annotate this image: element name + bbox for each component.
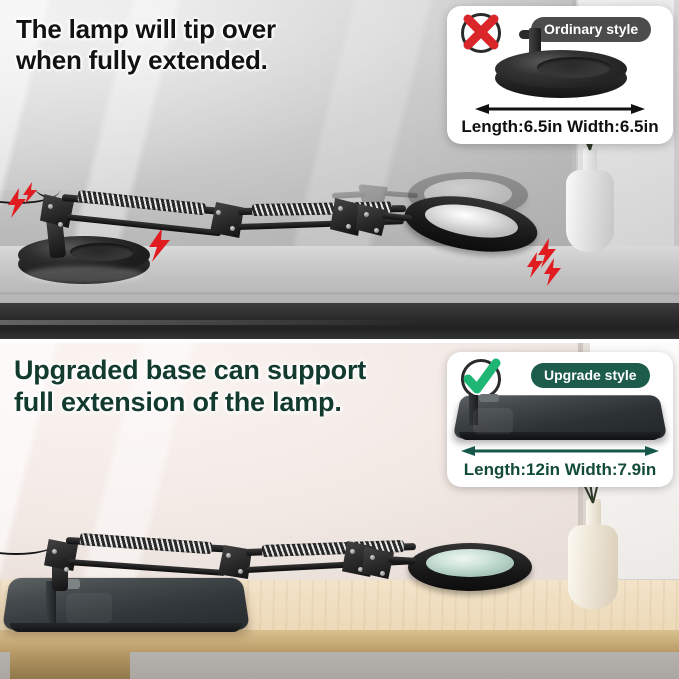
dimension-label-ordinary: Length:6.5in Width:6.5in	[447, 117, 673, 137]
dimension-arrow-upgrade	[461, 444, 659, 456]
lamp-head-bracket	[352, 196, 422, 244]
infographic-stage: The lamp will tip over when fully extend…	[0, 0, 679, 679]
badge-upgrade-style: Upgrade style	[531, 363, 650, 388]
dimension-label-upgrade: Length:12in Width:7.9in	[447, 460, 673, 480]
headline-top-line1: The lamp will tip over	[16, 14, 276, 44]
page-title-bottom: Upgraded base can support full extension…	[14, 355, 366, 419]
lamp-head-bracket-stable	[356, 541, 426, 587]
headline-bottom-line2: full extension of the lamp.	[14, 387, 366, 419]
lamp-arm-assembly-tipping	[30, 178, 650, 268]
table-leg	[10, 652, 130, 679]
panel-upgraded-base: Upgraded base can support full extension…	[0, 343, 679, 679]
card-upgrade-style[interactable]: Upgrade style Length:12in Width:7.9in	[447, 352, 673, 487]
panel-divider	[0, 339, 679, 343]
headline-bottom-line1: Upgraded base can support	[14, 355, 366, 385]
lamp-arm-assembly-stable	[36, 529, 656, 609]
badge-ordinary-style: Ordinary style	[531, 17, 651, 42]
panel-ordinary-base: The lamp will tip over when fully extend…	[0, 0, 679, 339]
headline-top-line2: when fully extended.	[16, 45, 276, 76]
dimension-arrow-ordinary	[475, 102, 645, 114]
desk-surface-seam	[0, 292, 679, 295]
page-title-top: The lamp will tip over when fully extend…	[16, 14, 276, 75]
round-base-illustration	[495, 50, 627, 102]
red-x-icon	[461, 13, 501, 53]
desk-edge-gray	[0, 303, 679, 339]
rect-base-illustration	[457, 392, 663, 446]
card-ordinary-style[interactable]: Ordinary style Length:6.5in Width:6.5in	[447, 6, 673, 144]
